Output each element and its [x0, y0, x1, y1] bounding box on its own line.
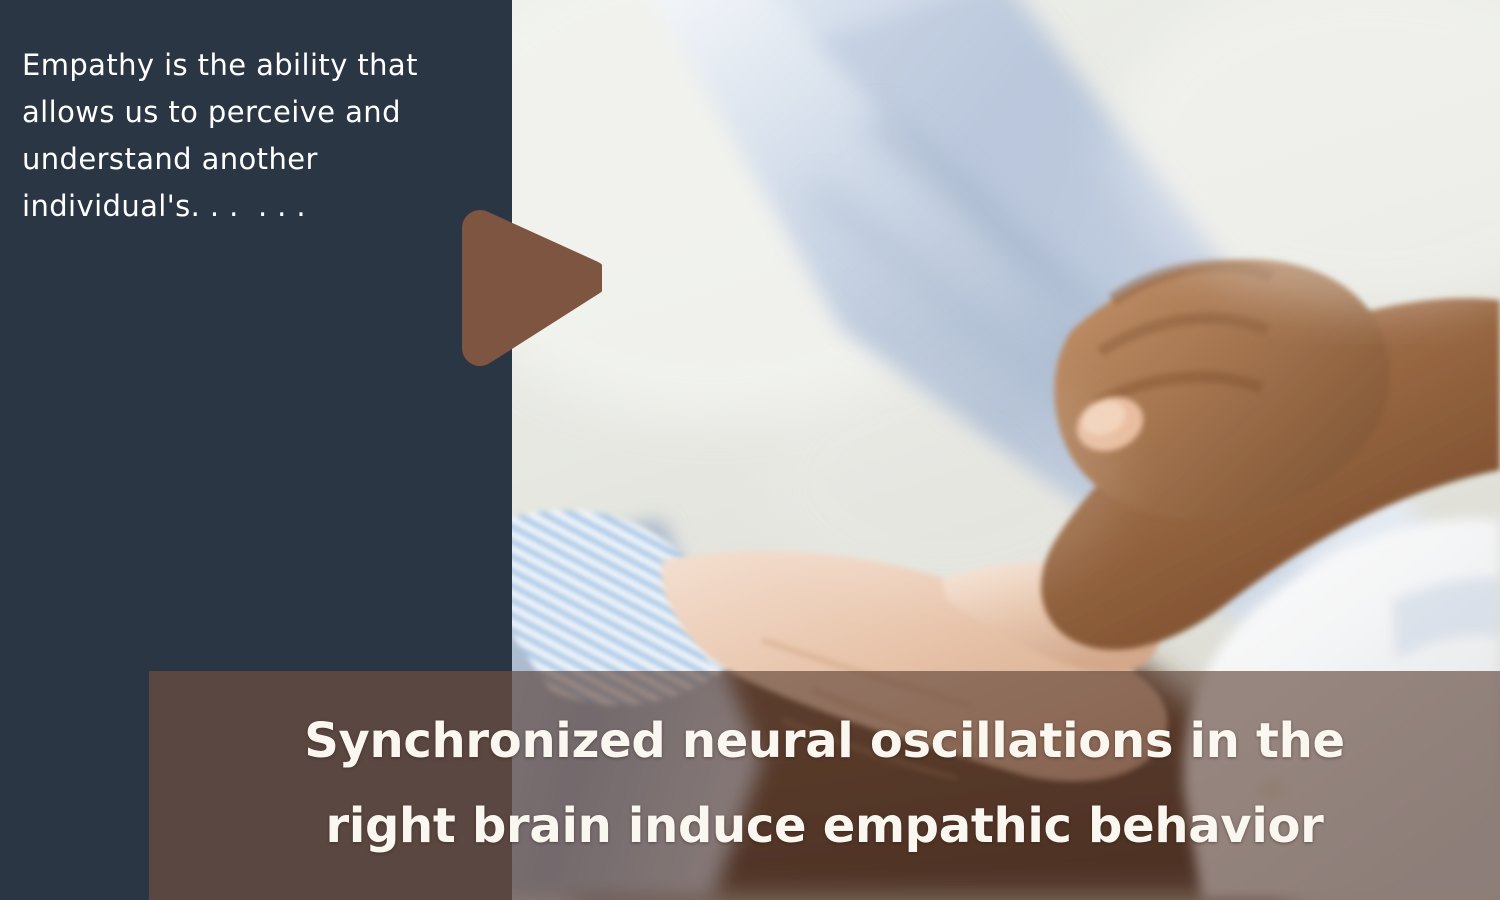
video-card: Empathy is the ability that allows us to…: [0, 0, 1500, 900]
caption-bar: Synchronized neural oscillations in the …: [149, 671, 1500, 900]
caption-title: Synchronized neural oscillations in the …: [149, 699, 1500, 869]
quote-text: Empathy is the ability that allows us to…: [22, 42, 472, 230]
play-triangle-icon: [462, 208, 602, 368]
play-button[interactable]: [462, 208, 602, 368]
